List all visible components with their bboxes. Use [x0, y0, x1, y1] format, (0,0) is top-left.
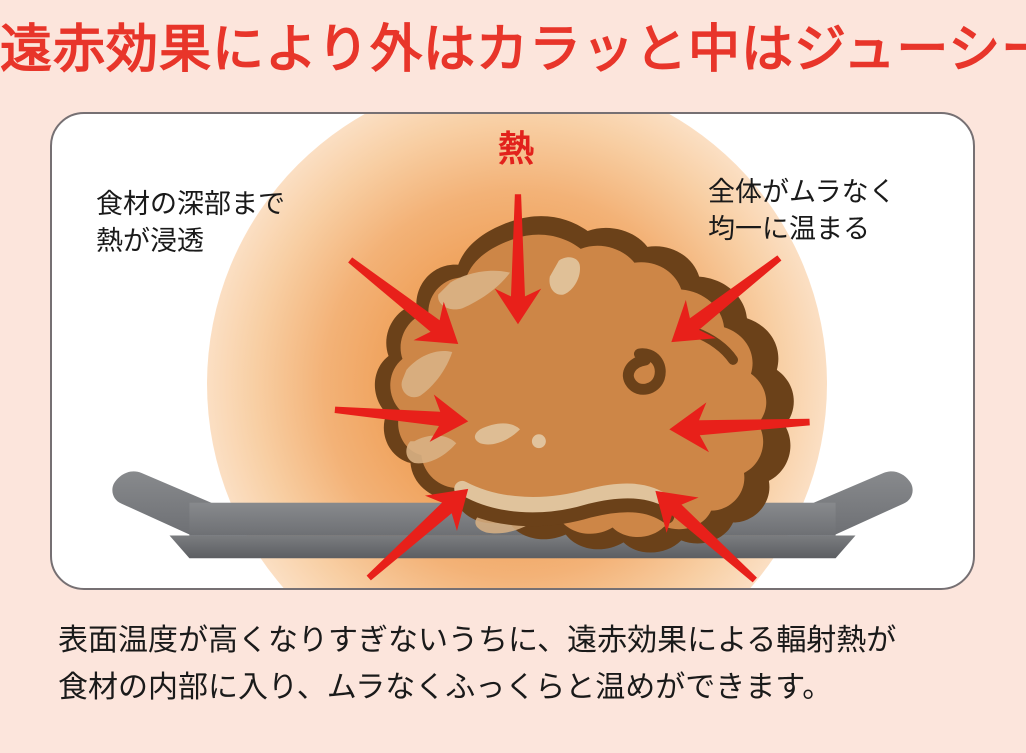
illustration-card: 熱 食材の深部まで 熱が浸透 全体がムラなく 均一に温まる [50, 112, 975, 590]
callout-left-line2: 熱が浸透 [96, 223, 285, 260]
caption-line1: 表面温度が高くなりすぎないうちに、遠赤効果による輻射熱が [58, 618, 988, 665]
food-item [375, 216, 794, 552]
callout-right-line1: 全体がムラなく [708, 174, 896, 211]
heat-label: 熱 [498, 132, 534, 168]
callout-left: 食材の深部まで 熱が浸透 [96, 186, 285, 261]
callout-right-line2: 均一に温まる [708, 211, 896, 248]
callout-right: 全体がムラなく 均一に温まる [708, 174, 896, 249]
callout-left-line1: 食材の深部まで [96, 186, 285, 223]
page-title: 遠赤効果により外はカラッと中はジューシー！ [0, 22, 1026, 79]
caption-line2: 食材の内部に入り、ムラなくふっくらと温めができます。 [58, 665, 988, 712]
caption: 表面温度が高くなりすぎないうちに、遠赤効果による輻射熱が 食材の内部に入り、ムラ… [58, 618, 988, 711]
